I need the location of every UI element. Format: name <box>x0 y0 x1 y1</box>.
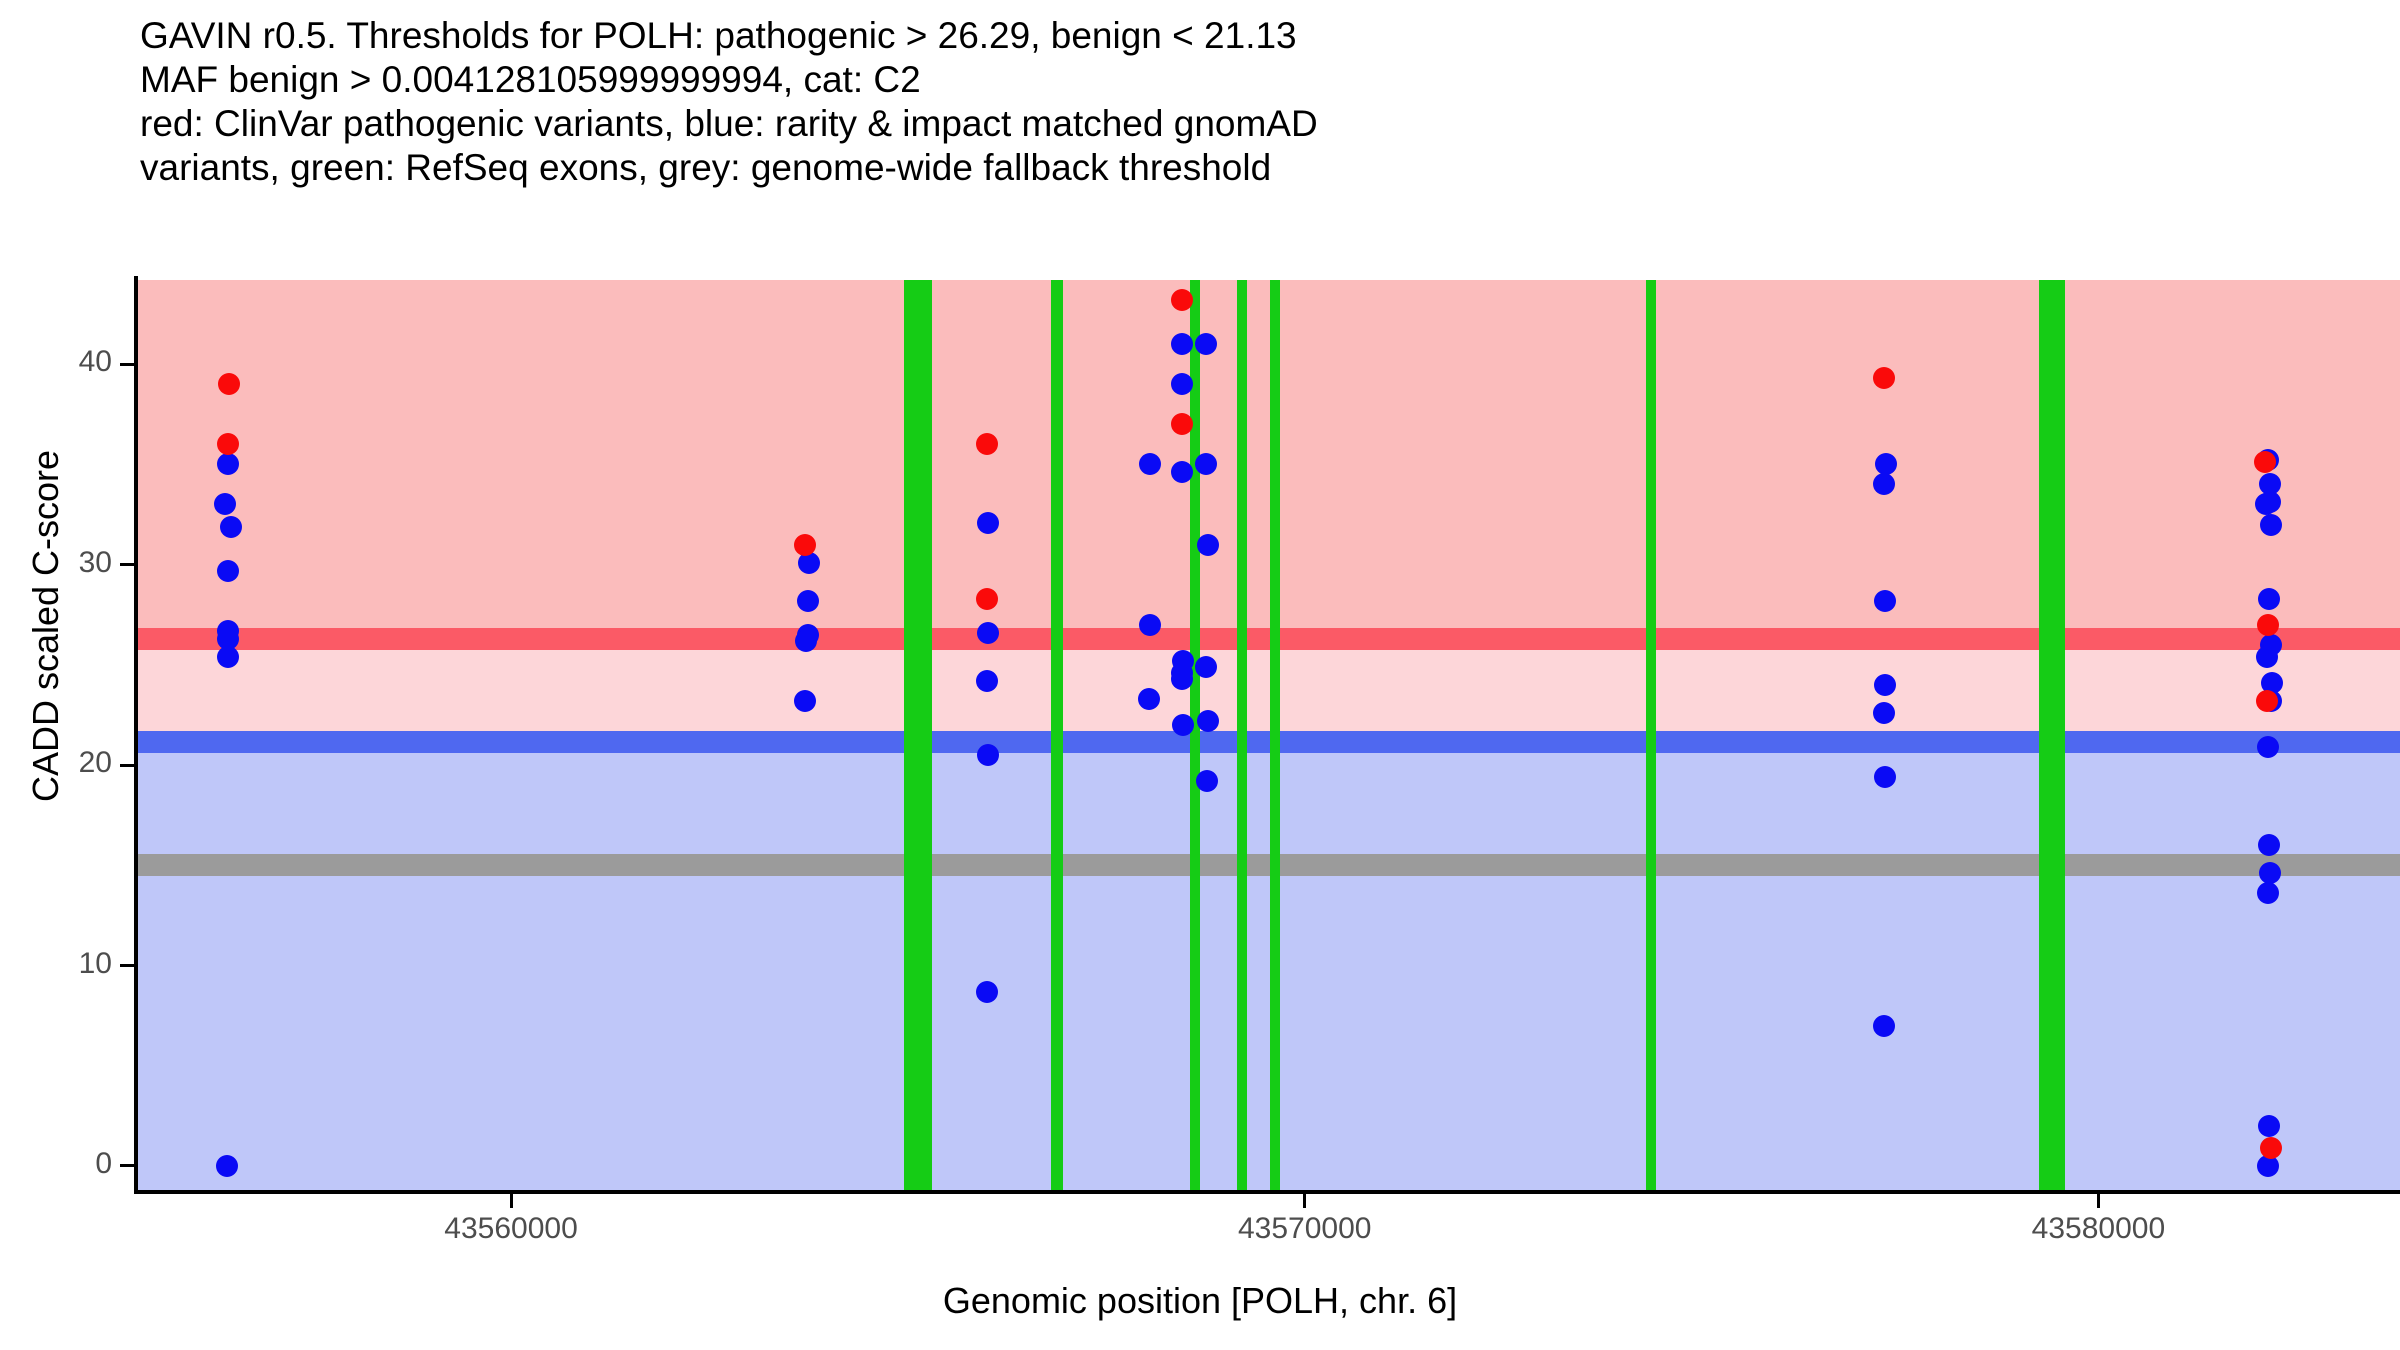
gnomad-variant-point <box>2258 1115 2280 1137</box>
x-axis-title: Genomic position [POLH, chr. 6] <box>0 1280 2400 1322</box>
exon-bar <box>1646 280 1656 1190</box>
y-axis-line <box>134 276 138 1194</box>
gnomad-variant-point <box>795 630 817 652</box>
gnomad-variant-point <box>797 590 819 612</box>
gnomad-variant-point <box>1873 1015 1895 1037</box>
clinvar-variant-point <box>794 534 816 556</box>
gnomad-variant-point <box>1197 710 1219 732</box>
clinvar-variant-point <box>2257 614 2279 636</box>
y-axis-tick <box>120 563 134 566</box>
gnomad-variant-point <box>1873 702 1895 724</box>
y-axis-tick-label: 30 <box>0 546 112 580</box>
x-axis-tick <box>1303 1194 1306 1208</box>
clinvar-variant-point <box>976 588 998 610</box>
clinvar-variant-point <box>1171 413 1193 435</box>
gnomad-variant-point <box>1874 766 1896 788</box>
y-axis-tick-label: 10 <box>0 947 112 981</box>
exon-bar <box>1237 280 1247 1190</box>
gnomad-variant-point <box>977 512 999 534</box>
gnomad-variant-point <box>217 560 239 582</box>
clinvar-variant-point <box>217 433 239 455</box>
x-axis-tick-label: 43560000 <box>444 1212 577 1246</box>
gnomad-variant-point <box>2258 588 2280 610</box>
clinvar-variant-point <box>2260 1137 2282 1159</box>
title-line-3: red: ClinVar pathogenic variants, blue: … <box>140 102 2340 146</box>
y-axis-tick <box>120 363 134 366</box>
exon-bar <box>1190 280 1200 1190</box>
y-axis-tick-label: 20 <box>0 746 112 780</box>
y-axis-tick <box>120 1164 134 1167</box>
gnomad-variant-point <box>976 981 998 1003</box>
gnomad-variant-point <box>220 516 242 538</box>
x-axis-tick-label: 43580000 <box>2032 1212 2165 1246</box>
gnomad-variant-point <box>2260 514 2282 536</box>
gnomad-variant-point <box>216 1155 238 1177</box>
x-axis-tick <box>510 1194 513 1208</box>
cadd-scatter-plot: GAVIN r0.5. Thresholds for POLH: pathoge… <box>0 0 2400 1350</box>
gnomad-variant-point <box>217 646 239 668</box>
y-axis-tick-label: 40 <box>0 345 112 379</box>
title-line-1: GAVIN r0.5. Thresholds for POLH: pathoge… <box>140 14 2340 58</box>
gnomad-variant-point <box>1139 614 1161 636</box>
exon-bar <box>2039 280 2065 1190</box>
gnomad-variant-point <box>2259 862 2281 884</box>
x-axis-tick-label: 43570000 <box>1238 1212 1371 1246</box>
gnomad-variant-point <box>2256 646 2278 668</box>
exon-bar <box>1270 280 1280 1190</box>
plot-panel <box>138 280 2400 1190</box>
gnomad-variant-point <box>1197 534 1219 556</box>
plot-area <box>138 280 2400 1190</box>
exon-bar <box>904 280 932 1190</box>
gnomad-variant-point <box>977 744 999 766</box>
title-line-4: variants, green: RefSeq exons, grey: gen… <box>140 146 2340 190</box>
gnomad-variant-point <box>976 670 998 692</box>
y-axis-tick-label: 0 <box>0 1147 112 1181</box>
y-axis-title: CADD scaled C-score <box>25 306 67 946</box>
gnomad-variant-point <box>977 622 999 644</box>
y-axis-tick <box>120 964 134 967</box>
title-line-2: MAF benign > 0.004128105999999994, cat: … <box>140 58 2340 102</box>
gnomad-variant-point <box>1874 674 1896 696</box>
x-axis-tick <box>2097 1194 2100 1208</box>
plot-title: GAVIN r0.5. Thresholds for POLH: pathoge… <box>140 14 2340 190</box>
x-axis-line <box>134 1190 2400 1194</box>
clinvar-variant-point <box>1171 289 1193 311</box>
gnomad-variant-point <box>1196 770 1218 792</box>
gnomad-variant-point <box>217 453 239 475</box>
gnomad-variant-point <box>1874 590 1896 612</box>
gnomad-variant-point <box>1875 453 1897 475</box>
gnomad-variant-point <box>794 690 816 712</box>
gnomad-variant-point <box>1195 656 1217 678</box>
exon-bar <box>1051 280 1063 1190</box>
gnomad-variant-point <box>1138 688 1160 710</box>
y-axis-tick <box>120 764 134 767</box>
gnomad-variant-point <box>1171 668 1193 690</box>
